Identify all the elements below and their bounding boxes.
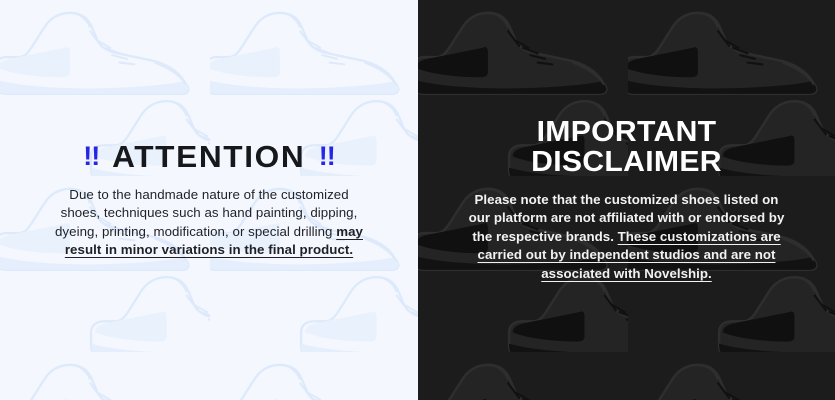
double-exclamation-left-icon: !!	[83, 143, 99, 170]
disclaimer-heading-line-1: IMPORTANT	[420, 117, 833, 147]
disclaimer-heading-line-2: DISCLAIMER	[420, 147, 833, 177]
attention-body-text: Due to the handmade nature of the custom…	[52, 186, 367, 260]
attention-heading: !! ATTENTION !!	[10, 141, 408, 172]
attention-heading-text: ATTENTION	[112, 141, 305, 172]
attention-body-normal: Due to the handmade nature of the custom…	[55, 187, 357, 239]
attention-panel: !! ATTENTION !! Due to the handmade natu…	[0, 0, 418, 400]
disclaimer-heading: IMPORTANT DISCLAIMER	[420, 117, 833, 177]
disclaimer-body-text: Please note that the customized shoes li…	[466, 191, 788, 284]
disclaimer-panel: IMPORTANT DISCLAIMER Please note that th…	[418, 0, 835, 400]
attention-content: !! ATTENTION !! Due to the handmade natu…	[0, 141, 418, 260]
disclaimer-content: IMPORTANT DISCLAIMER Please note that th…	[418, 117, 835, 284]
double-exclamation-right-icon: !!	[319, 143, 335, 170]
customization-notice-banner: !! ATTENTION !! Due to the handmade natu…	[0, 0, 835, 400]
